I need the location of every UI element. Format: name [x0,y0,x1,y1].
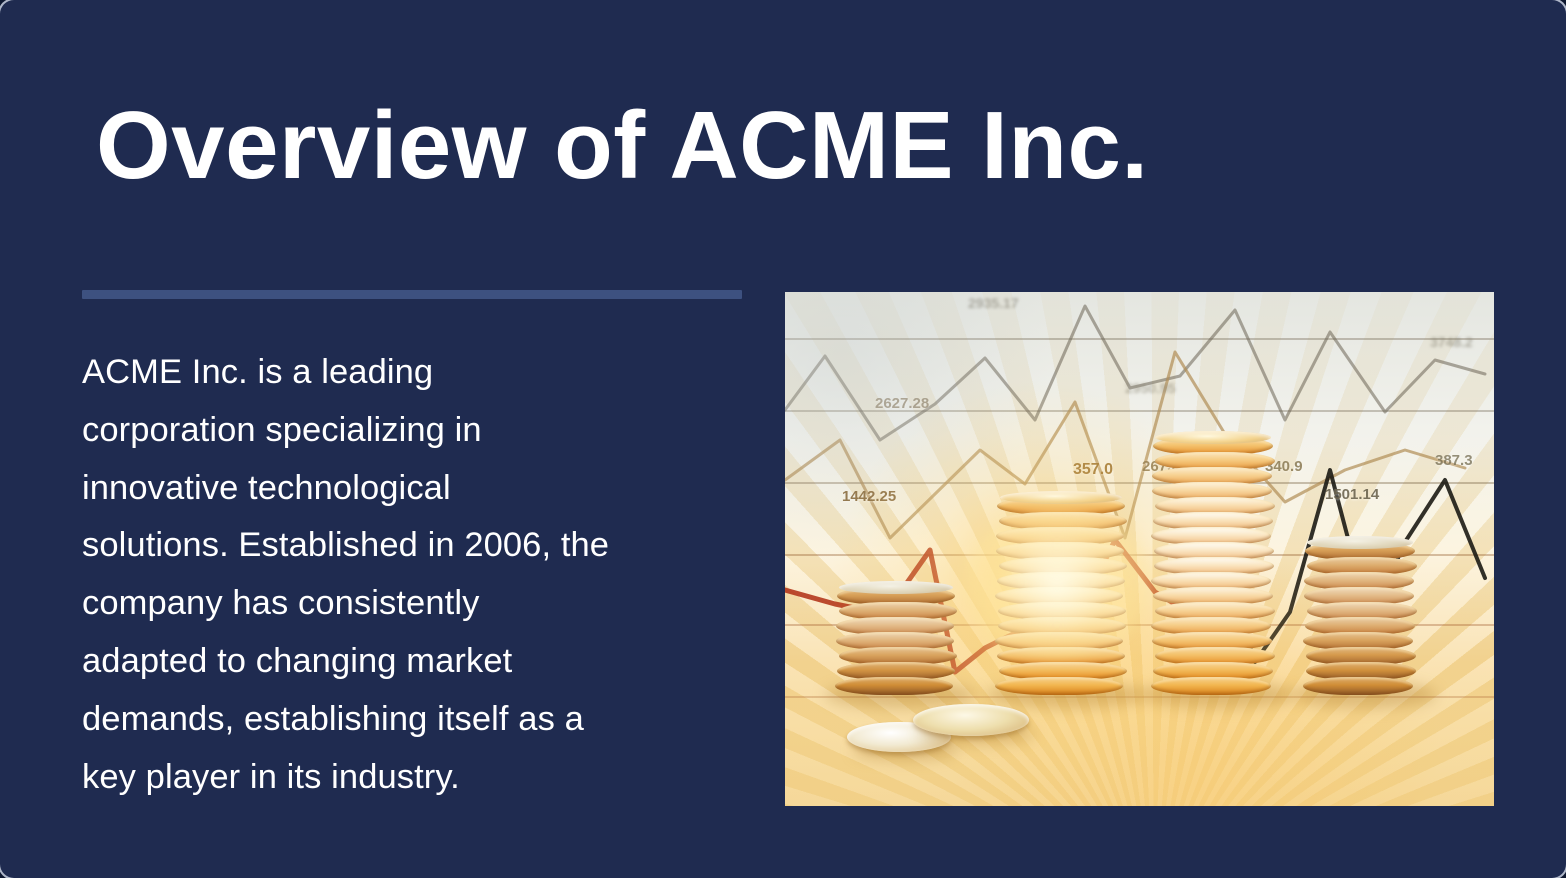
coin [1151,677,1271,695]
coin-top-face [839,581,952,594]
coin [835,677,953,695]
coin [995,677,1123,695]
body-line: key player in its industry. [82,749,747,807]
body-line: adapted to changing market [82,633,747,691]
coin-top-face [1000,491,1123,504]
loose-coin-right [913,704,1029,736]
body-line: solutions. Established in 2006, the [82,517,747,575]
coins-chart-photo: 2627.281442.25357.0270.22679.68340.91501… [785,292,1494,806]
slide-canvas: Overview of ACME Inc. ACME Inc. is a lea… [0,0,1566,878]
coin [1303,677,1413,695]
page-title: Overview of ACME Inc. [96,92,1496,200]
body-line: innovative technological [82,460,747,518]
coin-stack-1 [837,587,955,692]
body-line: company has consistently [82,575,747,633]
body-line: ACME Inc. is a leading [82,344,747,402]
coin-stack-3 [1153,437,1273,692]
coin-top-face [1155,431,1270,444]
divider [82,290,742,299]
body-paragraph: ACME Inc. is a leading corporation speci… [82,344,747,806]
body-line: demands, establishing itself as a [82,691,747,749]
coin-top-face [1307,536,1413,549]
photo-lens-bloom [962,508,1152,658]
body-line: corporation specializing in [82,402,747,460]
coin-stack-4 [1305,542,1415,692]
